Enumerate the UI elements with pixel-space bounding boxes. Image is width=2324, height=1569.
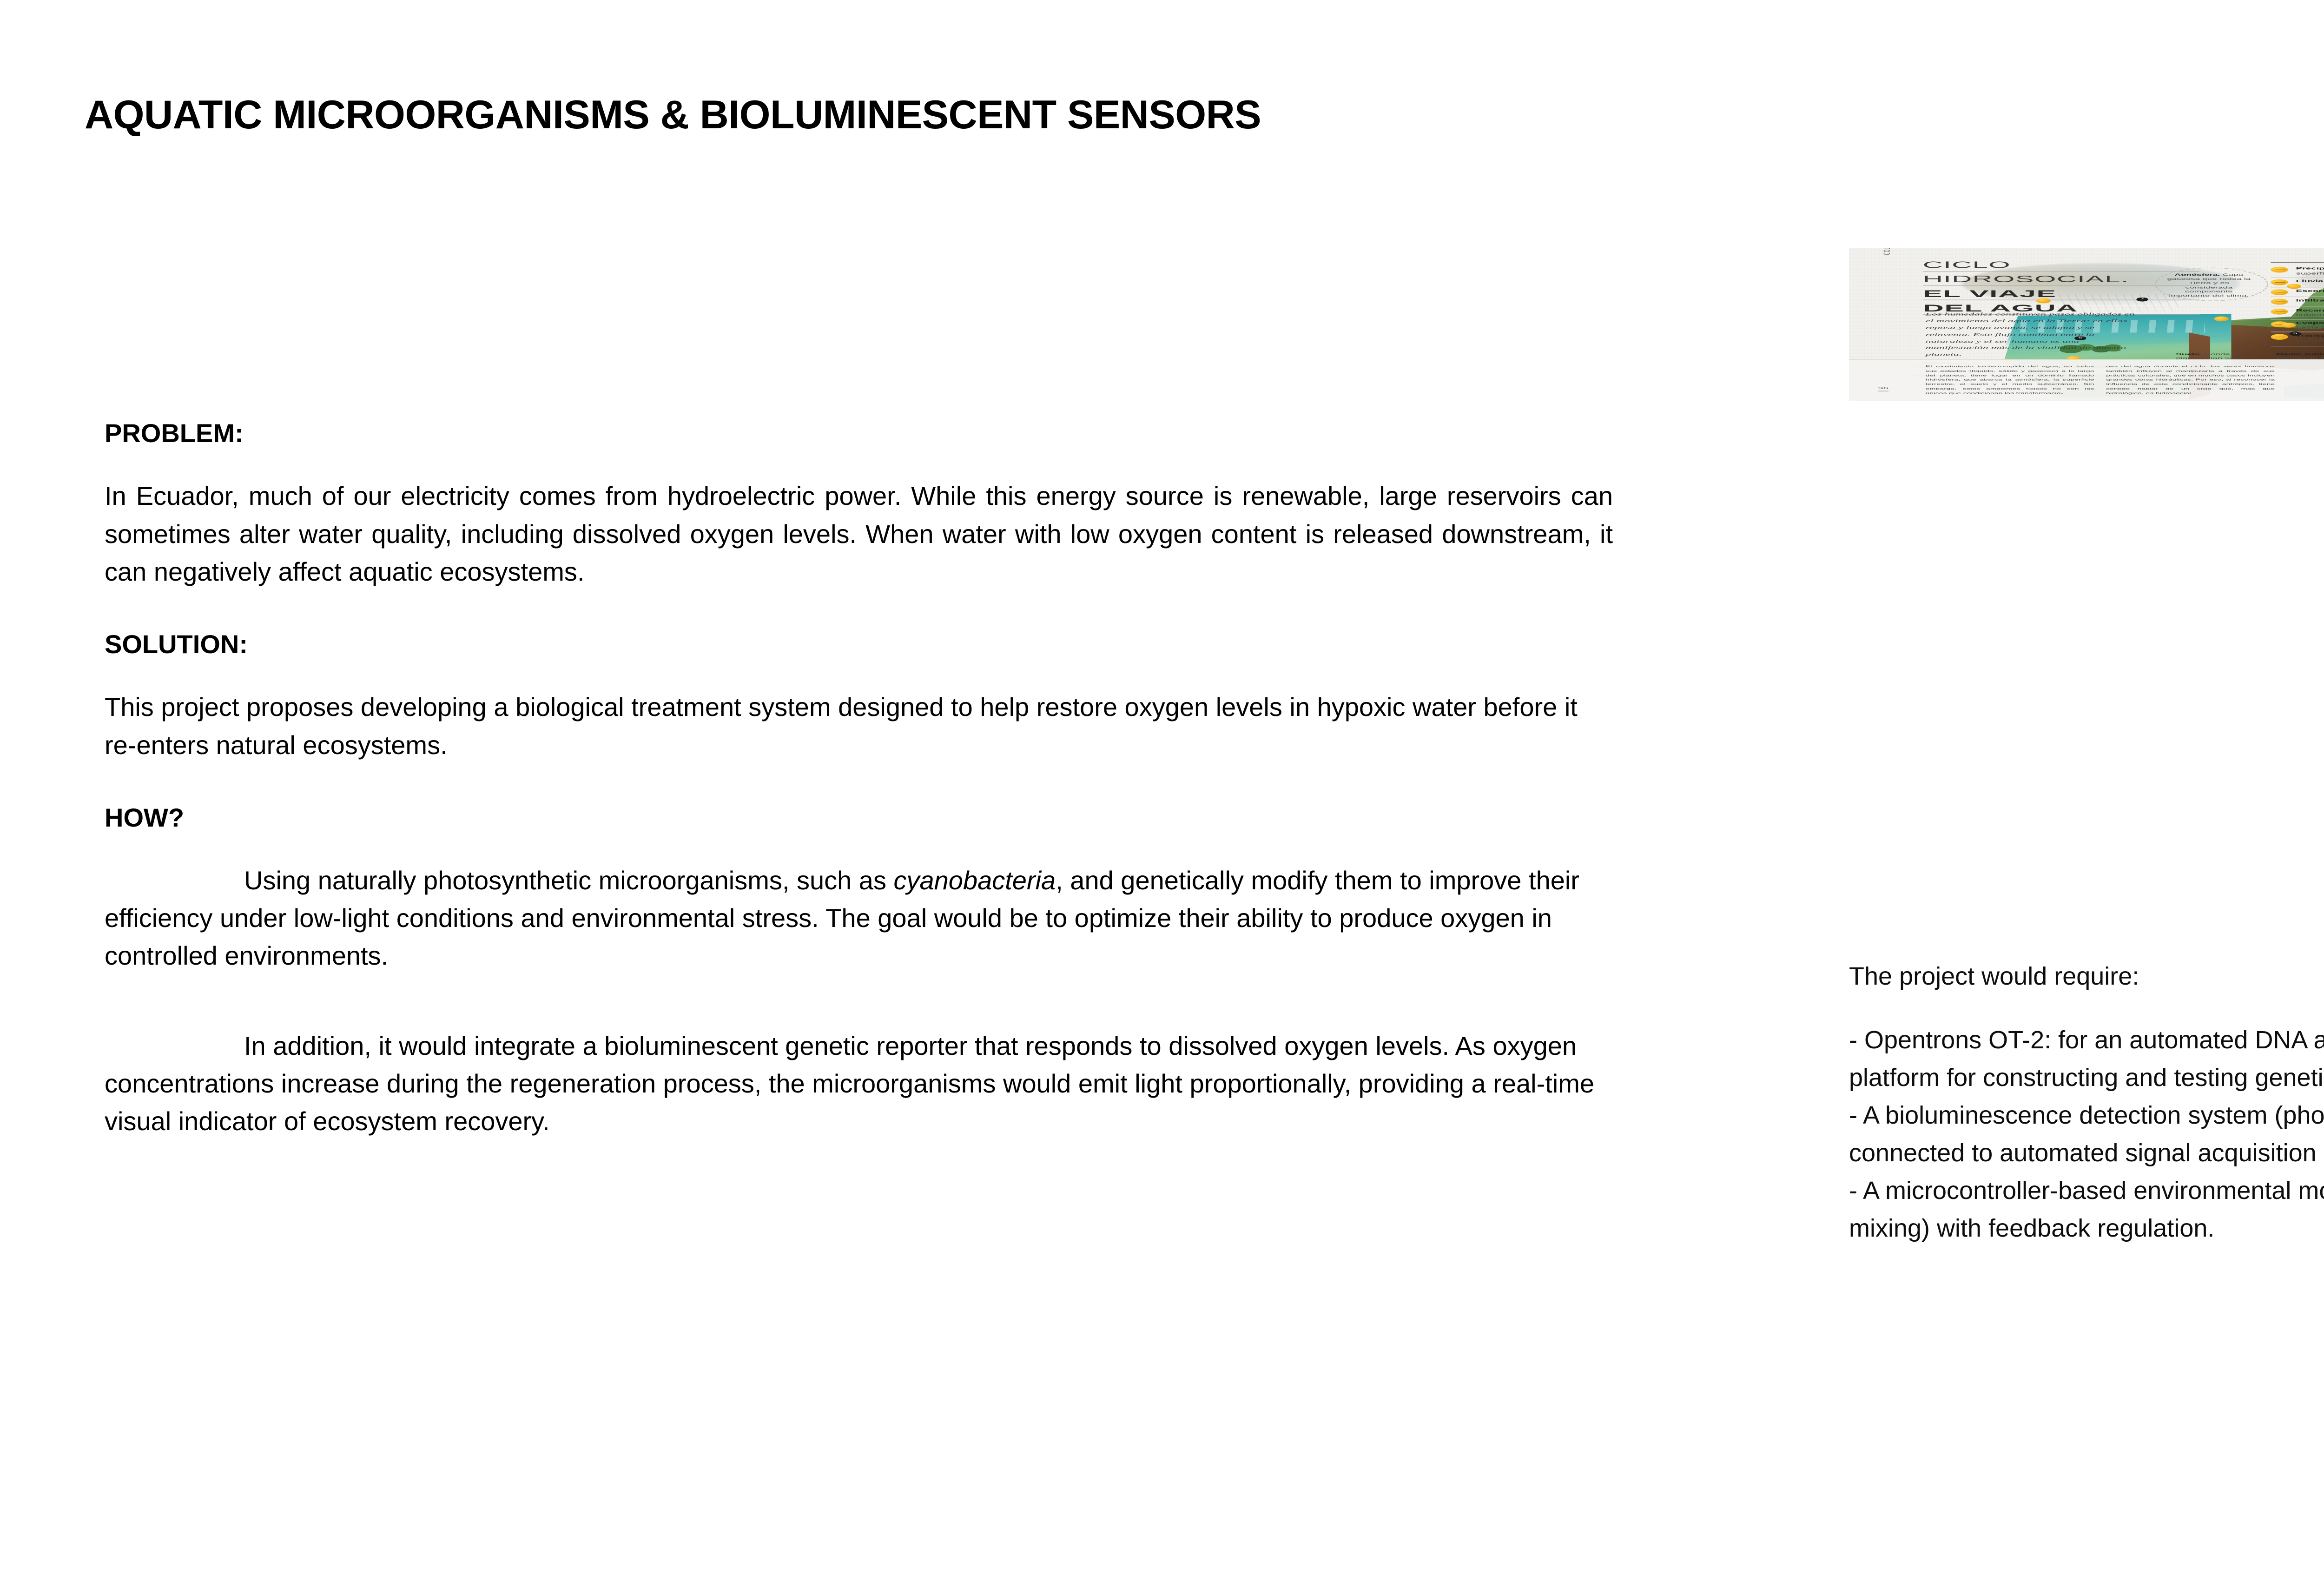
map-badge-5[interactable]: 5: [2289, 332, 2301, 336]
transpiration-icon: [2271, 334, 2288, 340]
map-pin-subsurface[interactable]: [2281, 323, 2296, 328]
precipitation-icon: [2271, 267, 2288, 273]
spacer: [105, 1003, 1613, 1027]
legend-item: Escorrentía directa. El agua se mueve so…: [2271, 287, 2324, 297]
infographic-title-line-1: CICLO: [1923, 260, 2200, 271]
legend-term: Infiltración.: [2296, 298, 2324, 303]
legend-term: Precipitación.: [2296, 266, 2324, 271]
spacer: [105, 792, 1613, 803]
infographic-page-spread: COLOMBIA ANFIBIA VOL. I CAPÍTULO I. LA N…: [1849, 248, 2324, 401]
book-series-side-label: COLOMBIA ANFIBIA VOL. I: [1883, 248, 1893, 259]
solution-heading: SOLUTION:: [105, 629, 1613, 659]
legend-item-text: Infiltración. El agua pasa de la superfi…: [2296, 298, 2324, 303]
legend-term: Escorrentía directa.: [2296, 289, 2324, 293]
infiltration-icon: [2271, 299, 2288, 305]
map-badge-7[interactable]: 7: [2136, 298, 2148, 302]
requirements-intro: The project would require:: [1849, 958, 2324, 995]
how-paragraph-1: Using naturally photosynthetic microorga…: [105, 861, 1613, 975]
legend-item-text: Lluvia horizontal. Agua condensada en fo…: [2296, 279, 2324, 284]
requirement-item: - Opentrons OT-2: for an automated DNA a…: [1849, 1021, 2324, 1097]
hydrosocial-cycle-figure[interactable]: COLOMBIA ANFIBIA VOL. I CAPÍTULO I. LA N…: [1849, 248, 2324, 401]
page-title: AQUATIC MICROORGANISMS & BIOLUMINESCENT …: [85, 92, 1261, 138]
map-pin-summit[interactable]: [2287, 284, 2301, 289]
horizontal-rain-icon: [2271, 279, 2288, 285]
right-content-column: The project would require: - Opentrons O…: [1849, 958, 2324, 1247]
callout-term: Medio subterráneo.: [2276, 353, 2324, 356]
how-par1-lead: Using naturally photosynthetic microorga…: [244, 866, 894, 895]
bottom-intro-columns: El movimiento ininterrumpido del agua, e…: [1926, 365, 2279, 396]
problem-paragraph: In Ecuador, much of our electricity come…: [105, 477, 1613, 590]
legend-item: Infiltración. El agua pasa de la superfi…: [2271, 297, 2324, 307]
left-content-column: PROBLEM: In Ecuador, much of our electri…: [105, 418, 1613, 1168]
legend-item-text: Precipitación. El agua fluye desde la at…: [2296, 266, 2324, 276]
callout-atmosfera-ring: [2155, 268, 2268, 301]
infographic-intro-text: Los humedales constituyen pasos obligado…: [1926, 311, 2139, 358]
requirements-list: - Opentrons OT-2: for an automated DNA a…: [1849, 1021, 2324, 1247]
spacer: [1849, 995, 2324, 1021]
legend-item: Precipitación. El agua fluye desde la at…: [2271, 265, 2324, 278]
infographic-canvas: COLOMBIA ANFIBIA VOL. I CAPÍTULO I. LA N…: [1849, 248, 2324, 401]
callout-term: Suelo.: [2176, 353, 2202, 356]
infographic-bottom-strip: El movimiento ininterrumpido del agua, e…: [1849, 359, 2324, 401]
recharge-icon: [2271, 309, 2288, 315]
requirement-item: - A microcontroller-based environmental …: [1849, 1172, 2324, 1247]
legend-item-text: Recarga. Hay flujo desde el suelo hasta …: [2296, 308, 2324, 318]
bottom-intro-col-1: El movimiento ininterrumpido del agua, e…: [1926, 365, 2094, 396]
legend-item: Recarga. Hay flujo desde el suelo hasta …: [2271, 307, 2324, 319]
folio-left: 36: [1878, 387, 1888, 391]
how-paragraph-2: In addition, it would integrate a biolum…: [105, 1027, 1613, 1140]
requirement-item: - A bioluminescence detection system (ph…: [1849, 1097, 2324, 1172]
legend-item-text: Evaporación. El agua vuelve desde los cu…: [2296, 321, 2324, 330]
legend-item-text: Escorrentía directa. El agua se mueve so…: [2296, 289, 2324, 293]
map-pin-precipitation[interactable]: [2036, 298, 2051, 304]
species-name-cyanobacteria: cyanobacteria: [894, 866, 1056, 895]
legend-item: Evaporación. El agua vuelve desde los cu…: [2271, 319, 2324, 332]
how-heading: HOW?: [105, 803, 1613, 833]
runoff-icon: [2271, 289, 2288, 295]
legend-item-text: Transpiración. El agua retenida por las …: [2296, 333, 2324, 343]
legend-term: Recarga.: [2296, 308, 2324, 312]
bottom-intro-col-2: nes del agua durante el ciclo: los seres…: [2106, 365, 2275, 396]
solution-paragraph: This project proposes developing a biolo…: [105, 688, 1613, 763]
map-badge-6[interactable]: 6: [2074, 336, 2086, 340]
map-pin-soil-edge[interactable]: [2214, 317, 2229, 322]
problem-heading: PROBLEM:: [105, 418, 1613, 448]
figure-container: COLOMBIA ANFIBIA VOL. I CAPÍTULO I. LA N…: [1849, 248, 2324, 401]
legend-term: Evaporación.: [2296, 321, 2324, 325]
legend-term: Lluvia horizontal.: [2296, 279, 2324, 283]
spacer: [105, 618, 1613, 629]
